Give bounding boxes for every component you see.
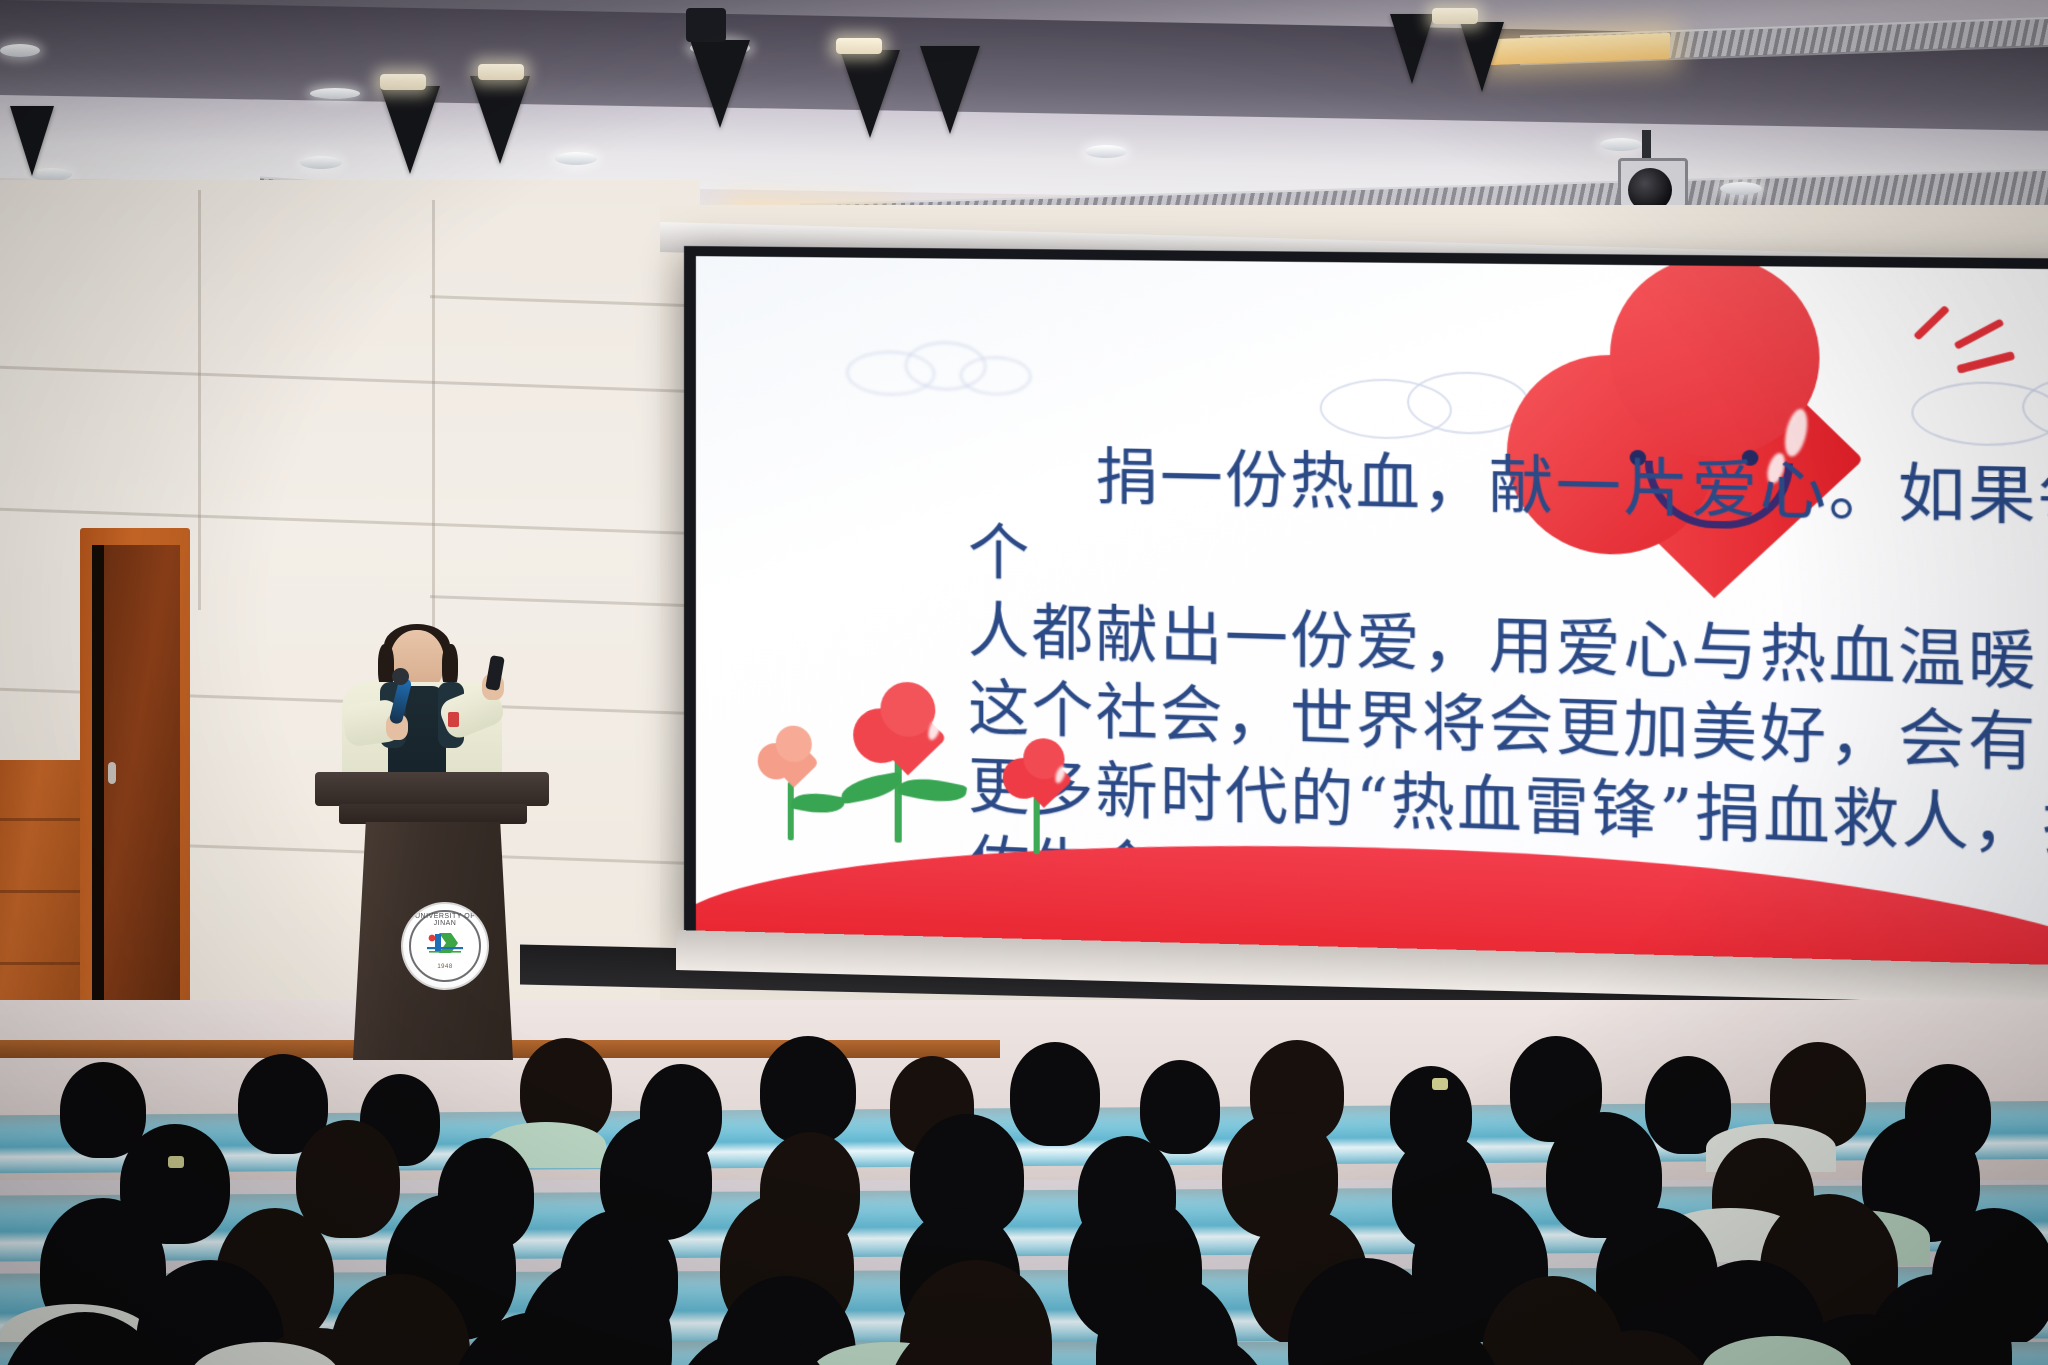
wainscot-line-2 [0,890,92,893]
side-door-leaf[interactable] [92,545,180,1037]
auditorium-photo: 捐一份热血，献一片爱心。如果每个 人都献出一份爱，用爱心与热血温暖 这个社会，世… [0,0,2048,1365]
spotlight-2 [380,86,440,174]
recessed-downlight-9 [0,44,40,57]
spotlight-6 [920,46,980,134]
spotlight-1 [10,106,54,176]
recessed-downlight-5 [1600,138,1642,151]
spotlight-2-lamp [380,74,426,90]
flower-stem [788,782,794,841]
emblem-year-text: 1948 [403,964,487,970]
spotlight-3 [470,76,530,164]
spotlight-3-lamp [478,64,524,80]
projection-screen: 捐一份热血，献一片爱心。如果每个 人都献出一份爱，用爱心与热血温暖 这个社会，世… [696,256,2048,995]
projection-screen-frame: 捐一份热血，献一片爱心。如果每个 人都献出一份爱，用爱心与热血温暖 这个社会，世… [684,246,2048,1007]
recessed-downlight-6 [1720,182,1762,195]
podium-neck [339,804,527,824]
emblem-top-text: UNIVERSITY OF JINAN [403,913,487,927]
heart-flower-small-left [748,728,838,842]
wall-seam-v1 [198,190,201,610]
door-handle-icon[interactable] [108,762,116,784]
cloud-icon-left-c [960,356,1032,396]
audience-head [296,1120,400,1238]
side-door-gap [92,545,104,1037]
recessed-downlight-10 [310,88,360,99]
heart-flower-small-right [997,747,1090,863]
spotlight-5 [840,50,900,138]
flower-heart-lobe-right [776,725,812,762]
spotlight-8 [1460,22,1504,92]
flower-leaf-right [897,772,967,808]
recessed-downlight-2 [300,156,342,169]
wainscot-line-1 [0,818,92,821]
flower-stem [1034,797,1040,854]
heart-flower-large-center [836,693,978,850]
hair-clip-icon [1432,1078,1448,1090]
podium-top [315,772,549,806]
speaker-presenter [330,630,510,790]
spotlight-5-lamp [836,38,882,54]
flower-heart-lobe-right [880,681,935,737]
audience-head [1140,1060,1220,1154]
spotlight-4-body [686,8,726,42]
spotlight-4 [690,40,750,128]
audience-head [1010,1042,1100,1146]
emblem-mark-icon [425,930,465,956]
spotlight-8-lamp [1432,8,1478,24]
wall-wainscot [0,760,92,1038]
hair-clip-icon [168,1156,184,1168]
speed-dash-3 [1956,351,2015,374]
speaker-badge [448,712,459,727]
recessed-downlight-4 [1085,145,1127,158]
university-of-jinan-emblem: UNIVERSITY OF JINAN 1948 [401,902,489,990]
projector-mount-arm [1642,130,1651,160]
wainscot-line-3 [0,962,92,965]
audience-head [760,1036,856,1144]
speed-dash-1 [1913,305,1950,341]
speed-dash-2 [1954,318,2005,350]
microphone-head-icon [392,668,409,685]
recessed-downlight-3 [555,152,597,165]
spotlight-7 [1390,14,1434,84]
audience-area [0,1012,2048,1365]
